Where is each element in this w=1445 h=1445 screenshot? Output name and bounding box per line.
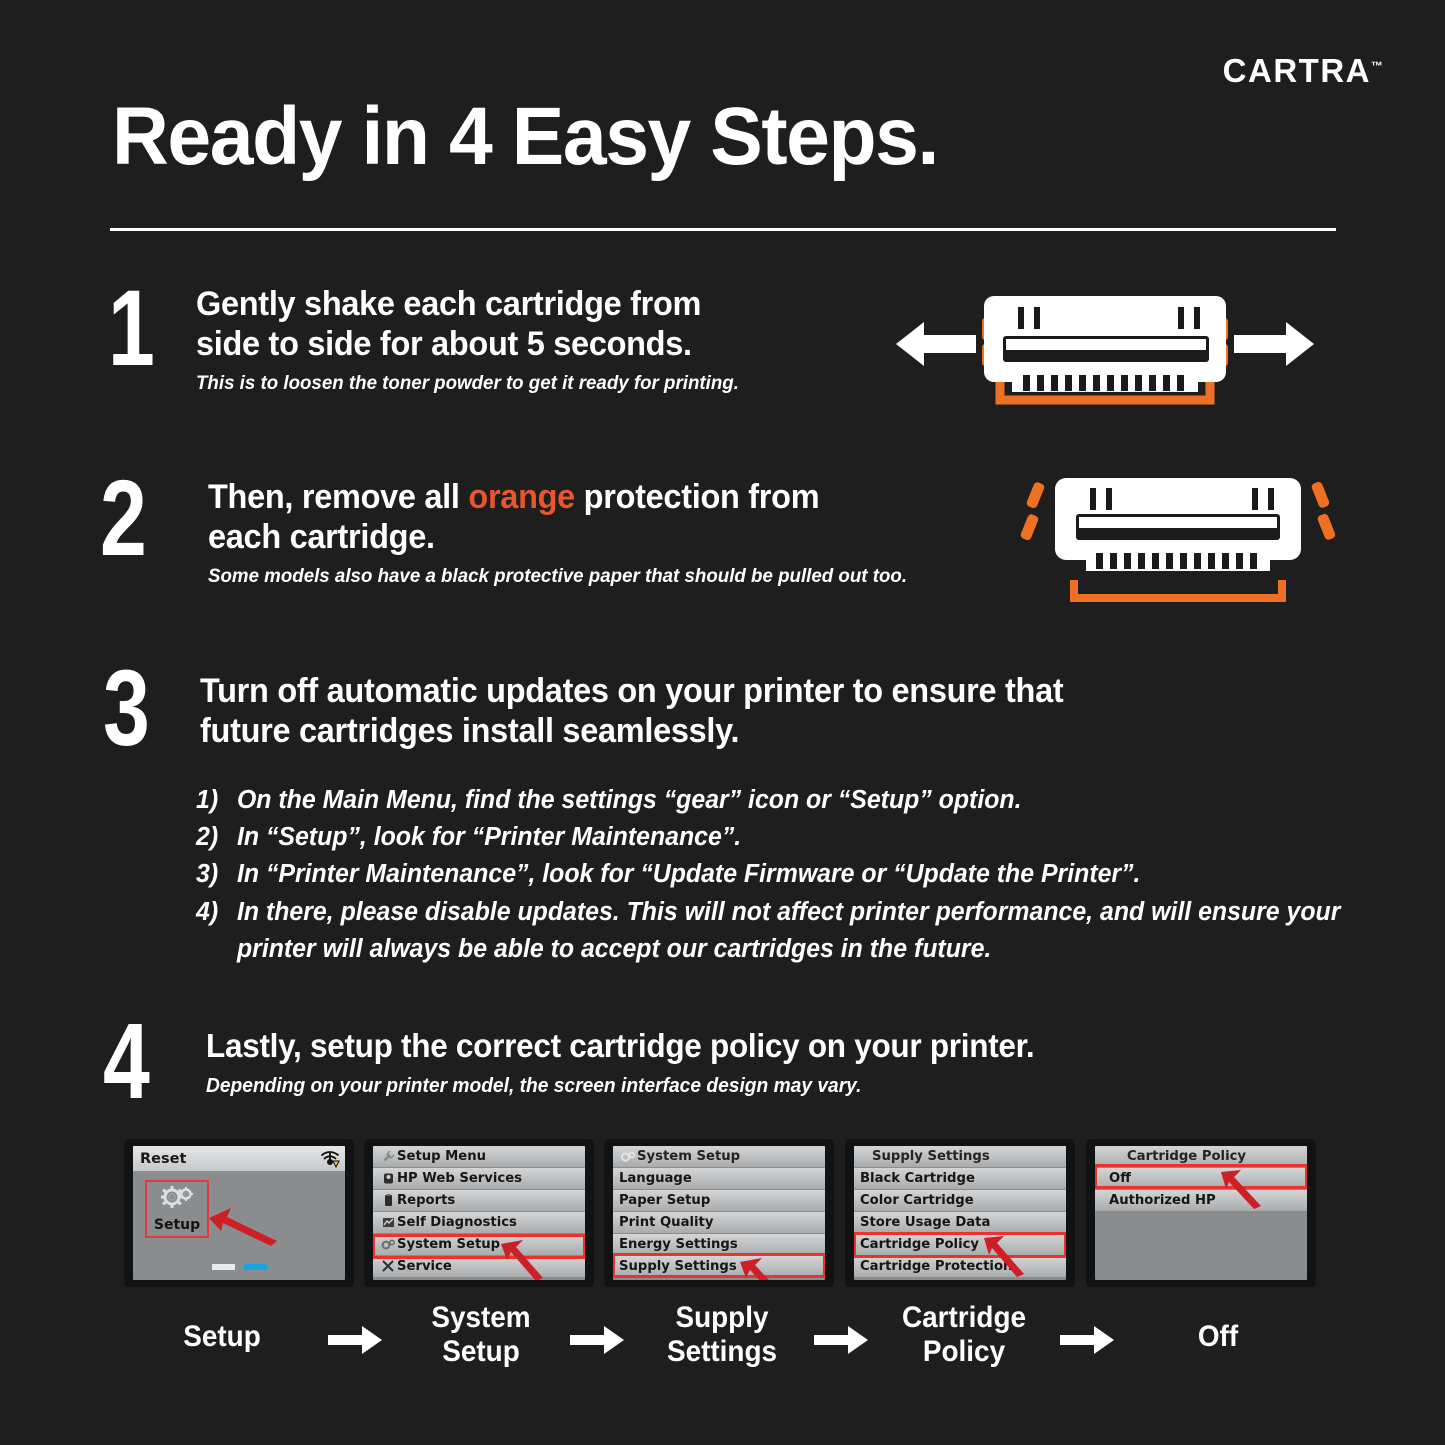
printer-screen-supply-settings[interactable]: Supply Settings Black Cartridge Color Ca… [845, 1139, 1075, 1287]
step-4-number: 4 [103, 1015, 148, 1108]
step-2-subtext: Some models also have a black protective… [208, 565, 918, 588]
list-item: 2) In “Setup”, look for “Printer Mainten… [196, 819, 1347, 856]
printer-screens-row: Reset [124, 1139, 1324, 1287]
menu-item-label: Language [619, 1171, 692, 1186]
flow-label-system-setup: System Setup [395, 1301, 568, 1368]
menu-header-label: Supply Settings [860, 1149, 990, 1164]
chart-icon [379, 1216, 397, 1229]
step-3-heading-line1: Turn off automatic updates on your print… [200, 672, 1231, 712]
menu-item-label: Cartridge Protection [860, 1259, 1012, 1274]
page-indicator [133, 1264, 345, 1270]
step-2-heading-part2: protection from [575, 478, 819, 516]
step-4-subtext: Depending on your printer model, the scr… [206, 1074, 1224, 1098]
step-3-heading-line2: future cartridges install seamlessly. [200, 712, 1231, 752]
arrow-right-icon [1060, 1322, 1116, 1356]
flow-label-line2: Policy [873, 1335, 1055, 1369]
menu-item-cartridge-protection[interactable]: Cartridge Protection [854, 1256, 1066, 1277]
printer-screen-cartridge-policy[interactable]: Cartridge Policy Off Authorized HP [1086, 1139, 1316, 1287]
wrench-icon [379, 1150, 397, 1163]
menu-item-language[interactable]: Language [613, 1168, 825, 1189]
printer-screen-setup-home[interactable]: Reset [124, 1139, 354, 1287]
menu-item-system-setup[interactable]: System Setup [373, 1234, 585, 1255]
flow-label-setup: Setup [129, 1320, 315, 1354]
menu-item-label: Setup Menu [397, 1149, 486, 1164]
menu-item-self-diagnostics[interactable]: Self Diagnostics [373, 1212, 585, 1233]
menu-item-label: Supply Settings [619, 1259, 737, 1274]
list-marker: 1) [196, 782, 237, 819]
step-2-heading-part1: Then, remove all [208, 478, 468, 516]
menu-header-cartridge-policy: Cartridge Policy [1095, 1146, 1307, 1167]
menu-item-label: Off [1101, 1171, 1131, 1186]
setup-tile-highlight[interactable]: Setup [145, 1180, 209, 1238]
menu-list: System Setup Language Paper Setup Print … [613, 1146, 825, 1280]
menu-item-label: Energy Settings [619, 1237, 738, 1252]
page-title: Ready in 4 Easy Steps. [112, 96, 938, 178]
list-text: In “Setup”, look for “Printer Maintenanc… [237, 819, 1347, 856]
printer-screen-setup-menu[interactable]: Setup Menu HP Web Services Reports [364, 1139, 594, 1287]
report-icon [379, 1194, 397, 1207]
menu-item-label: Cartridge Policy [860, 1237, 979, 1252]
menu-item-label: Black Cartridge [860, 1171, 975, 1186]
menu-header-label: Cartridge Policy [1101, 1149, 1246, 1164]
gear-icon [158, 1185, 196, 1216]
menu-item-supply-settings[interactable]: Supply Settings [613, 1256, 825, 1277]
gear-icon [619, 1150, 637, 1163]
menu-item-cartridge-policy[interactable]: Cartridge Policy [854, 1234, 1066, 1255]
step-1-subtext: This is to loosen the toner powder to ge… [196, 372, 868, 395]
brand-logo: CARTRA™ [1223, 52, 1383, 90]
flow-label-off: Off [1144, 1320, 1293, 1354]
menu-item-color-cartridge[interactable]: Color Cartridge [854, 1190, 1066, 1211]
page-dot-active[interactable] [244, 1264, 267, 1270]
setup-tile-label: Setup [154, 1217, 200, 1233]
step-1-heading-line1: Gently shake each cartridge from [196, 285, 865, 325]
screen-topbar: Reset [133, 1146, 345, 1171]
menu-item-label: Service [397, 1259, 452, 1274]
list-text: In there, please disable updates. This w… [237, 894, 1347, 968]
menu-item-label: Store Usage Data [860, 1215, 990, 1230]
flow-label-line2: Setup [395, 1335, 568, 1369]
step-1-number: 1 [108, 282, 153, 375]
menu-item-label: Reports [397, 1193, 455, 1208]
flow-label-cartridge-policy: Cartridge Policy [873, 1301, 1055, 1368]
arrow-right-icon [570, 1322, 626, 1356]
menu-list: Cartridge Policy Off Authorized HP [1095, 1146, 1307, 1280]
arrow-left-icon [896, 322, 976, 366]
menu-item-hp-web-services[interactable]: HP Web Services [373, 1168, 585, 1189]
arrow-right-icon [328, 1322, 384, 1356]
list-marker: 2) [196, 819, 237, 856]
menu-item-label: Print Quality [619, 1215, 713, 1230]
step-1-heading: Gently shake each cartridge from side to… [196, 285, 865, 365]
step-3-sublist: 1) On the Main Menu, find the settings “… [196, 782, 1347, 968]
pointer-arrow-icon [205, 1204, 285, 1248]
reset-label[interactable]: Reset [133, 1151, 186, 1167]
page-dot[interactable] [212, 1264, 235, 1270]
menu-list: Setup Menu HP Web Services Reports [373, 1146, 585, 1280]
list-text: On the Main Menu, find the settings “gea… [237, 782, 1347, 819]
cartridge-remove-orange-illustration [1018, 468, 1338, 608]
menu-item-reports[interactable]: Reports [373, 1190, 585, 1211]
menu-header-label: System Setup [637, 1149, 740, 1164]
menu-item-black-cartridge[interactable]: Black Cartridge [854, 1168, 1066, 1189]
menu-item-label: Paper Setup [619, 1193, 710, 1208]
menu-item-label: System Setup [397, 1237, 500, 1252]
gear-icon [379, 1238, 397, 1251]
list-item: 1) On the Main Menu, find the settings “… [196, 782, 1347, 819]
step-2-heading-line2: each cartridge. [208, 518, 915, 558]
navigation-flow: Setup System Setup Supply Settings Cartr… [124, 1294, 1324, 1394]
step-1-heading-line2: side to side for about 5 seconds. [196, 325, 865, 365]
cartridge-shake-illustration [890, 282, 1320, 407]
flow-label-line1: Supply [631, 1301, 813, 1335]
menu-item-paper-setup[interactable]: Paper Setup [613, 1190, 825, 1211]
menu-item-off[interactable]: Off [1095, 1168, 1307, 1189]
trademark-symbol: ™ [1371, 59, 1383, 73]
menu-item-energy-settings[interactable]: Energy Settings [613, 1234, 825, 1255]
list-marker: 4) [196, 894, 237, 968]
step-2-heading-highlight: orange [468, 478, 575, 516]
flow-label-supply-settings: Supply Settings [631, 1301, 813, 1368]
step-3-heading: Turn off automatic updates on your print… [200, 672, 1231, 752]
list-item: 4) In there, please disable updates. Thi… [196, 894, 1347, 968]
menu-header-supply-settings: Supply Settings [854, 1146, 1066, 1167]
step-3-number: 3 [103, 662, 148, 755]
step-2-heading-line1: Then, remove all orange protection from [208, 478, 915, 518]
flow-label-line1: System [395, 1301, 568, 1335]
flow-label-line1: Cartridge [873, 1301, 1055, 1335]
title-divider [110, 228, 1336, 231]
menu-item-label: Color Cartridge [860, 1193, 974, 1208]
step-2-heading: Then, remove all orange protection from … [208, 478, 915, 558]
list-text: In “Printer Maintenance”, look for “Upda… [237, 856, 1347, 893]
arrow-right-icon [814, 1322, 870, 1356]
printer-screen-system-setup[interactable]: System Setup Language Paper Setup Print … [604, 1139, 834, 1287]
menu-item-print-quality[interactable]: Print Quality [613, 1212, 825, 1233]
menu-item-service[interactable]: Service [373, 1256, 585, 1277]
step-4-heading: Lastly, setup the correct cartridge poli… [206, 1027, 1218, 1066]
list-marker: 3) [196, 856, 237, 893]
menu-item-label: Authorized HP [1101, 1193, 1216, 1208]
tools-icon [379, 1260, 397, 1273]
menu-item-label: HP Web Services [397, 1171, 522, 1186]
list-item: 3) In “Printer Maintenance”, look for “U… [196, 856, 1347, 893]
arrow-right-icon [1234, 322, 1314, 366]
wireless-icon [319, 1150, 345, 1168]
menu-item-label: Self Diagnostics [397, 1215, 517, 1230]
step-2-number: 2 [100, 472, 145, 565]
menu-list: Supply Settings Black Cartridge Color Ca… [854, 1146, 1066, 1280]
cloud-icon [379, 1172, 397, 1185]
menu-item-setup-menu[interactable]: Setup Menu [373, 1146, 585, 1167]
flow-label-line2: Settings [631, 1335, 813, 1369]
brand-name: CARTRA [1223, 52, 1371, 89]
menu-item-store-usage-data[interactable]: Store Usage Data [854, 1212, 1066, 1233]
menu-header-system-setup: System Setup [613, 1146, 825, 1167]
menu-item-authorized-hp[interactable]: Authorized HP [1095, 1190, 1307, 1211]
